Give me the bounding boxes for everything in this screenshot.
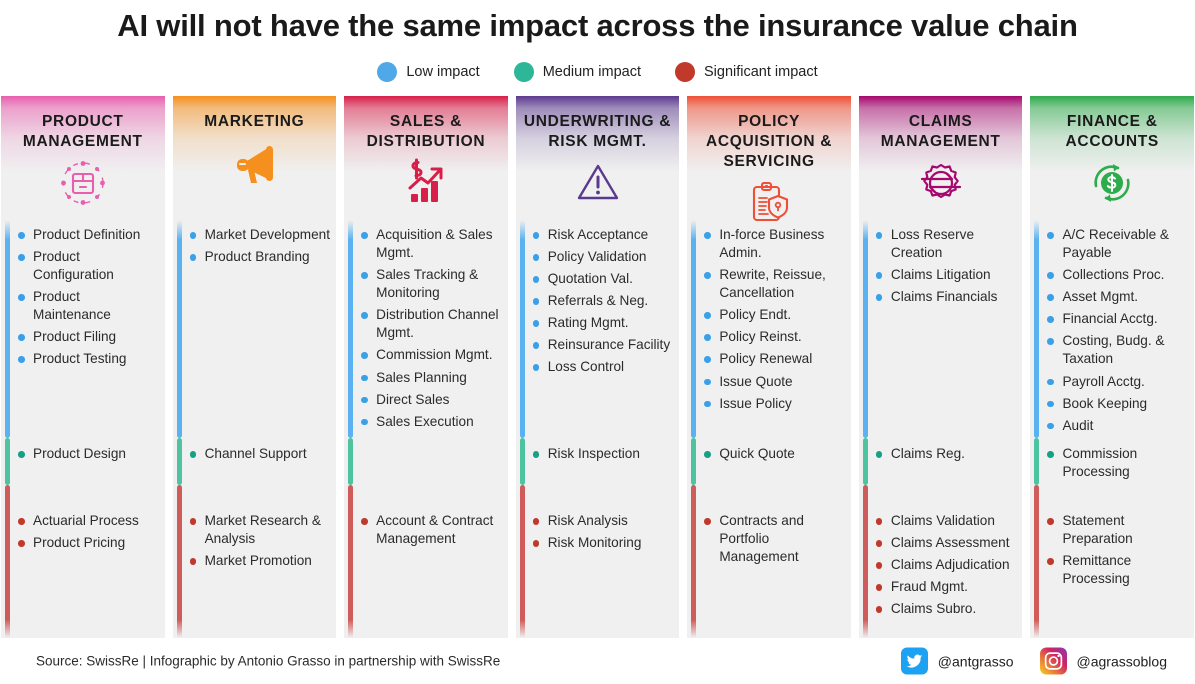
column-header: SALES & DISTRIBUTION [344,96,508,220]
impact-band-significant: Contracts and Portfolio Management [687,485,851,638]
footer: Source: SwissRe | Infographic by Antonio… [0,638,1195,684]
list-item: Statement Preparation [1046,512,1188,548]
value-chain-columns: PRODUCT MANAGEMENTProduct DefinitionProd… [0,96,1195,638]
list-item: Policy Validation [532,248,674,266]
source-credit: Source: SwissRe | Infographic by Antonio… [36,654,500,669]
impact-list-low: Risk AcceptancePolicy ValidationQuotatio… [532,220,674,377]
list-item: Costing, Budg. & Taxation [1046,332,1188,368]
list-item: Actuarial Process [17,512,159,530]
impact-list-low: Market DevelopmentProduct Branding [189,220,331,266]
list-item: Product Testing [17,350,159,368]
impact-band-medium: Product Design [1,438,165,485]
list-item: Channel Support [189,445,331,463]
column-title: SALES & DISTRIBUTION [344,112,508,152]
list-item: Quick Quote [703,445,845,463]
impact-list-medium: Channel Support [189,438,331,463]
list-item: Product Maintenance [17,288,159,324]
impact-list-significant: Statement PreparationRemittance Processi… [1046,485,1188,588]
list-item: Financial Acctg. [1046,310,1188,328]
list-item: Payroll Acctg. [1046,373,1188,391]
list-item: Reinsurance Facility [532,336,674,354]
growth-chart-icon [344,156,508,210]
column-body: Acquisition & Sales Mgmt.Sales Tracking … [344,220,508,638]
infographic-page: AI will not have the same impact across … [0,0,1195,684]
warning-triangle-icon [516,156,680,210]
list-item: Audit [1046,417,1188,435]
instagram-handle: @agrassoblog [1077,653,1168,669]
list-item: Claims Adjudication [875,556,1017,574]
column-header: PRODUCT MANAGEMENT [1,96,165,220]
impact-band-medium: Channel Support [173,438,337,485]
list-item: Rating Mgmt. [532,314,674,332]
page-title: AI will not have the same impact across … [0,8,1195,44]
column-body: Product DefinitionProduct ConfigurationP… [1,220,165,638]
list-item: Issue Policy [703,395,845,413]
list-item: Product Configuration [17,248,159,284]
list-item: Rewrite, Reissue, Cancellation [703,266,845,302]
list-item: Sales Execution [360,413,502,431]
impact-band-significant: Account & Contract Management [344,485,508,638]
list-item: Commission Mgmt. [360,346,502,364]
column-header: MARKETING [173,96,337,220]
gear-claims-icon [859,156,1023,210]
megaphone-icon [173,136,337,190]
list-item: Distribution Channel Mgmt. [360,306,502,342]
list-item: Acquisition & Sales Mgmt. [360,226,502,262]
list-item: Contracts and Portfolio Management [703,512,845,566]
impact-band-medium [344,438,508,485]
list-item: Product Design [17,445,159,463]
impact-list-low: A/C Receivable & PayableCollections Proc… [1046,220,1188,435]
policy-shield-icon [687,175,851,229]
impact-band-low: A/C Receivable & PayableCollections Proc… [1030,220,1194,438]
list-item: Sales Tracking & Monitoring [360,266,502,302]
social-twitter[interactable]: @antgrasso [901,648,1014,675]
impact-band-medium: Risk Inspection [516,438,680,485]
list-item: Commission Processing [1046,445,1188,481]
impact-list-medium: Quick Quote [703,438,845,463]
list-item: Issue Quote [703,373,845,391]
impact-band-significant: Statement PreparationRemittance Processi… [1030,485,1194,638]
social-instagram[interactable]: @agrassoblog [1040,648,1168,675]
impact-band-low: Acquisition & Sales Mgmt.Sales Tracking … [344,220,508,438]
list-item: Product Filing [17,328,159,346]
impact-list-low: Loss Reserve CreationClaims LitigationCl… [875,220,1017,306]
list-item: Asset Mgmt. [1046,288,1188,306]
impact-list-significant: Contracts and Portfolio Management [703,485,845,566]
list-item: Fraud Mgmt. [875,578,1017,596]
impact-list-low: Acquisition & Sales Mgmt.Sales Tracking … [360,220,502,431]
column-title: CLAIMS MANAGEMENT [859,112,1023,152]
impact-band-low: Risk AcceptancePolicy ValidationQuotatio… [516,220,680,438]
circle-icon [675,62,695,82]
list-item: Risk Monitoring [532,534,674,552]
legend: Low impact Medium impact Significant imp… [0,62,1195,82]
list-item: Quotation Val. [532,270,674,288]
value-chain-column[interactable]: UNDERWRITING & RISK MGMT.Risk Acceptance… [516,96,680,638]
list-item: Loss Control [532,358,674,376]
impact-list-medium: Product Design [17,438,159,463]
list-item: Risk Analysis [532,512,674,530]
column-title: PRODUCT MANAGEMENT [1,112,165,152]
list-item: Claims Assessment [875,534,1017,552]
impact-band-medium: Claims Reg. [859,438,1023,485]
impact-band-significant: Risk AnalysisRisk Monitoring [516,485,680,638]
legend-label-medium: Medium impact [543,64,641,80]
impact-list-significant: Risk AnalysisRisk Monitoring [532,485,674,552]
list-item: Collections Proc. [1046,266,1188,284]
impact-band-significant: Claims ValidationClaims AssessmentClaims… [859,485,1023,638]
list-item: Product Branding [189,248,331,266]
list-item: Account & Contract Management [360,512,502,548]
legend-label-significant: Significant impact [704,64,818,80]
impact-band-low: Product DefinitionProduct ConfigurationP… [1,220,165,438]
value-chain-column[interactable]: MARKETINGMarket DevelopmentProduct Brand… [173,96,337,638]
column-header: CLAIMS MANAGEMENT [859,96,1023,220]
money-refresh-icon [1030,156,1194,210]
column-header: POLICY ACQUISITION & SERVICING [687,96,851,220]
twitter-handle: @antgrasso [938,653,1014,669]
list-item: Risk Acceptance [532,226,674,244]
impact-list-significant: Actuarial ProcessProduct Pricing [17,485,159,552]
list-item: In-force Business Admin. [703,226,845,262]
value-chain-column[interactable]: FINANCE & ACCOUNTSA/C Receivable & Payab… [1030,96,1194,638]
list-item: Referrals & Neg. [532,292,674,310]
impact-band-low: Loss Reserve CreationClaims LitigationCl… [859,220,1023,438]
list-item: Claims Validation [875,512,1017,530]
list-item: Claims Litigation [875,266,1017,284]
circle-icon [377,62,397,82]
legend-label-low: Low impact [406,64,479,80]
column-body: Market DevelopmentProduct BrandingChanne… [173,220,337,638]
list-item: Direct Sales [360,391,502,409]
list-item: Product Pricing [17,534,159,552]
list-item: Market Promotion [189,552,331,570]
column-body: In-force Business Admin.Rewrite, Reissue… [687,220,851,638]
value-chain-column[interactable]: PRODUCT MANAGEMENTProduct DefinitionProd… [1,96,165,638]
list-item: A/C Receivable & Payable [1046,226,1188,262]
value-chain-column[interactable]: SALES & DISTRIBUTIONAcquisition & Sales … [344,96,508,638]
column-title: MARKETING [173,112,337,132]
list-item: Policy Endt. [703,306,845,324]
column-body: Loss Reserve CreationClaims LitigationCl… [859,220,1023,638]
list-item: Product Definition [17,226,159,244]
list-item: Policy Renewal [703,350,845,368]
legend-item-low: Low impact [377,62,479,82]
list-item: Book Keeping [1046,395,1188,413]
impact-list-medium: Claims Reg. [875,438,1017,463]
circle-icon [514,62,534,82]
impact-list-medium: Risk Inspection [532,438,674,463]
impact-band-medium: Commission Processing [1030,438,1194,485]
list-item: Remittance Processing [1046,552,1188,588]
impact-list-significant: Market Research & AnalysisMarket Promoti… [189,485,331,570]
product-box-icon [1,156,165,210]
impact-band-significant: Market Research & AnalysisMarket Promoti… [173,485,337,638]
legend-item-significant: Significant impact [675,62,818,82]
impact-band-significant: Actuarial ProcessProduct Pricing [1,485,165,638]
list-item: Claims Financials [875,288,1017,306]
column-body: A/C Receivable & PayableCollections Proc… [1030,220,1194,638]
list-item: Claims Subro. [875,600,1017,618]
list-item: Market Research & Analysis [189,512,331,548]
column-header: FINANCE & ACCOUNTS [1030,96,1194,220]
column-title: UNDERWRITING & RISK MGMT. [516,112,680,152]
impact-list-significant: Account & Contract Management [360,485,502,548]
list-item: Loss Reserve Creation [875,226,1017,262]
legend-item-medium: Medium impact [514,62,641,82]
value-chain-column[interactable]: CLAIMS MANAGEMENTLoss Reserve CreationCl… [859,96,1023,638]
impact-list-low: In-force Business Admin.Rewrite, Reissue… [703,220,845,413]
impact-list-medium: Commission Processing [1046,438,1188,481]
value-chain-column[interactable]: POLICY ACQUISITION & SERVICINGIn-force B… [687,96,851,638]
impact-band-medium: Quick Quote [687,438,851,485]
list-item: Market Development [189,226,331,244]
column-title: POLICY ACQUISITION & SERVICING [687,112,851,171]
list-item: Claims Reg. [875,445,1017,463]
instagram-icon [1040,648,1067,675]
impact-band-low: Market DevelopmentProduct Branding [173,220,337,438]
social-links: @antgrasso [901,648,1167,675]
list-item: Policy Reinst. [703,328,845,346]
twitter-icon [901,648,928,675]
column-header: UNDERWRITING & RISK MGMT. [516,96,680,220]
column-body: Risk AcceptancePolicy ValidationQuotatio… [516,220,680,638]
impact-band-low: In-force Business Admin.Rewrite, Reissue… [687,220,851,438]
impact-list-significant: Claims ValidationClaims AssessmentClaims… [875,485,1017,618]
list-item: Sales Planning [360,369,502,387]
impact-list-low: Product DefinitionProduct ConfigurationP… [17,220,159,369]
list-item: Risk Inspection [532,445,674,463]
column-title: FINANCE & ACCOUNTS [1030,112,1194,152]
